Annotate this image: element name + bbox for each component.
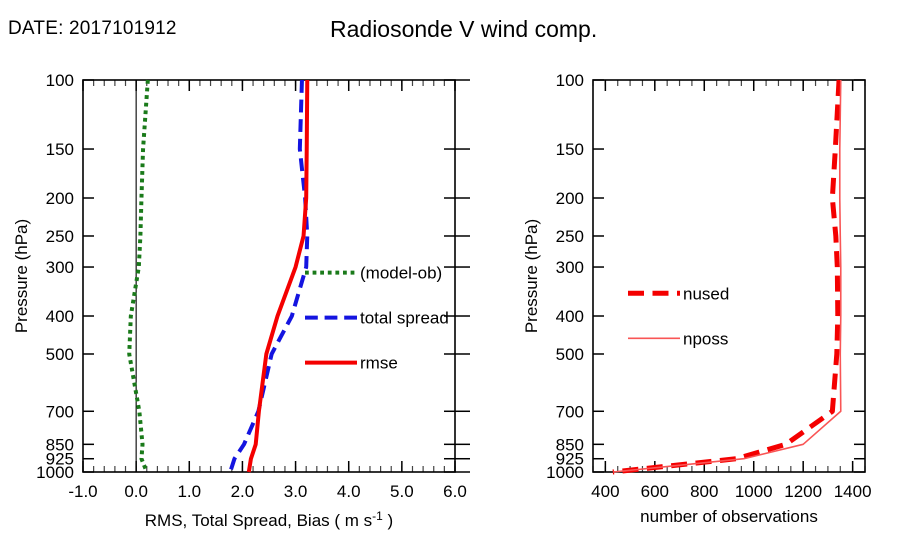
y-tick-label: 1000	[36, 463, 74, 482]
x-axis-title: number of observations	[640, 507, 818, 526]
x-tick-label: 600	[641, 482, 669, 501]
y-tick-label: 700	[556, 402, 584, 421]
y-tick-label: 150	[46, 140, 74, 159]
x-tick-label: 0.0	[124, 482, 148, 501]
x-axis-title: RMS, Total Spread, Bias ( m s-1 )	[145, 509, 393, 530]
y-tick-label: 1000	[546, 463, 584, 482]
legend: nusednposs	[628, 284, 729, 348]
page-title: Radiosonde V wind comp.	[330, 16, 597, 43]
plots-canvas: -1.00.01.02.03.04.05.06.0100150200250300…	[0, 0, 900, 560]
y-tick-label: 500	[46, 345, 74, 364]
series-line-nposs	[613, 80, 840, 472]
y-tick-label: 300	[46, 258, 74, 277]
y-tick-label: 250	[46, 227, 74, 246]
gutter-ticks	[455, 80, 470, 472]
x-tick-label: 6.0	[443, 482, 467, 501]
legend-label: nposs	[683, 329, 728, 348]
x-minor-ticks	[593, 80, 865, 472]
x-tick-label: 1200	[784, 482, 822, 501]
figure-root: DATE: 2017101912 Radiosonde V wind comp.…	[0, 0, 900, 560]
y-tick-label: 100	[46, 71, 74, 90]
series-line-total-spread	[230, 80, 307, 472]
legend-label: (model-ob)	[360, 264, 442, 283]
panel-right: 4006008001000120014001001502002503004005…	[522, 71, 872, 526]
y-tick-label: 100	[556, 71, 584, 90]
y-tick-label: 400	[556, 307, 584, 326]
plot-frame	[593, 80, 865, 472]
x-tick-label: 4.0	[337, 482, 361, 501]
x-axis-title-post: )	[383, 511, 393, 530]
series-line--model-ob-	[129, 80, 148, 472]
y-tick-label: 200	[556, 189, 584, 208]
x-tick-label: 5.0	[390, 482, 414, 501]
series-line-nused	[613, 80, 839, 472]
x-tick-label: 1.0	[177, 482, 201, 501]
y-tick-label: 700	[46, 402, 74, 421]
panel-left: -1.00.01.02.03.04.05.06.0100150200250300…	[12, 71, 467, 530]
x-tick-label: 3.0	[284, 482, 308, 501]
x-tick-label: -1.0	[68, 482, 97, 501]
y-tick-label: 150	[556, 140, 584, 159]
y-axis-title: Pressure (hPa)	[522, 219, 541, 333]
x-tick-label: 400	[591, 482, 619, 501]
y-axis-title: Pressure (hPa)	[12, 219, 31, 333]
y-tick-label: 250	[556, 227, 584, 246]
x-tick-label: 800	[690, 482, 718, 501]
legend: (model-ob)total spreadrmse	[305, 264, 449, 373]
x-tick-label: 2.0	[231, 482, 255, 501]
y-tick-label: 500	[556, 345, 584, 364]
legend-label: total spread	[360, 309, 449, 328]
date-label: DATE: 2017101912	[8, 18, 177, 40]
x-axis-title-pre: RMS, Total Spread, Bias ( m s	[145, 511, 372, 530]
x-tick-label: 1000	[735, 482, 773, 501]
legend-label: nused	[683, 284, 729, 303]
y-tick-label: 300	[556, 258, 584, 277]
y-tick-label: 200	[46, 189, 74, 208]
x-tick-label: 1400	[834, 482, 872, 501]
y-tick-label: 400	[46, 307, 74, 326]
legend-label: rmse	[360, 354, 398, 373]
x-axis-title-superscript: -1	[372, 509, 383, 523]
